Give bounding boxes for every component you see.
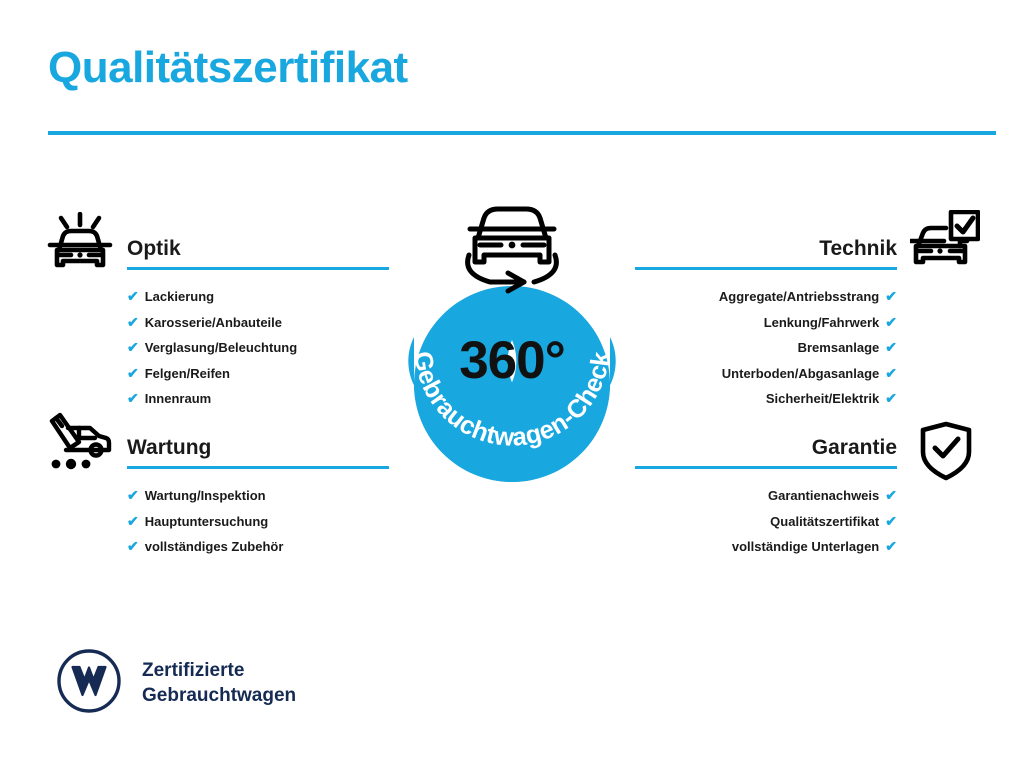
- list-item-label: Lenkung/Fahrwerk: [764, 311, 880, 336]
- section-garantie: Garantie Garantienachweis ✔ Qualitätszer…: [635, 436, 897, 560]
- list-item-label: Bremsanlage: [798, 336, 880, 361]
- list-item: ✔ Lackierung: [127, 284, 389, 310]
- vw-logo-icon: [56, 648, 122, 719]
- list-item: ✔ vollständiges Zubehör: [127, 534, 389, 560]
- check-icon: ✔: [885, 483, 897, 508]
- section-heading-technik: Technik: [635, 237, 897, 260]
- check-icon: ✔: [885, 534, 897, 559]
- check-icon: ✔: [127, 534, 139, 559]
- list-item-label: vollständiges Zubehör: [145, 535, 284, 560]
- section-heading-wartung: Wartung: [127, 436, 389, 459]
- list-item: Sicherheit/Elektrik ✔: [635, 386, 897, 412]
- section-divider-optik: [127, 267, 389, 270]
- checklist-optik: ✔ Lackierung ✔ Karosserie/Anbauteile ✔ V…: [127, 284, 389, 412]
- list-item: ✔ Karosserie/Anbauteile: [127, 310, 389, 336]
- check-icon: ✔: [127, 335, 139, 360]
- car-checkbox-icon: [910, 210, 980, 277]
- list-item: ✔ Hauptuntersuchung: [127, 509, 389, 535]
- certificate-page: Qualitätszertifikat: [0, 0, 1024, 768]
- list-item-label: Felgen/Reifen: [145, 362, 230, 387]
- list-item-label: Innenraum: [145, 387, 211, 412]
- check-icon: ✔: [885, 335, 897, 360]
- check-icon: ✔: [885, 509, 897, 534]
- check-icon: ✔: [127, 386, 139, 411]
- section-heading-optik: Optik: [127, 237, 389, 260]
- check-icon: ✔: [127, 509, 139, 534]
- section-divider-technik: [635, 267, 897, 270]
- title-divider: [48, 131, 996, 135]
- check-icon: ✔: [885, 386, 897, 411]
- list-item: ✔ Wartung/Inspektion: [127, 483, 389, 509]
- section-divider-garantie: [635, 466, 897, 469]
- badge-center-label: 360°: [374, 334, 650, 387]
- list-item-label: vollständige Unterlagen: [732, 535, 879, 560]
- page-title: Qualitätszertifikat: [48, 44, 408, 92]
- footer-line-1: Zertifizierte: [142, 659, 296, 683]
- list-item-label: Hauptuntersuchung: [145, 510, 269, 535]
- list-item: ✔ Verglasung/Beleuchtung: [127, 335, 389, 361]
- car-shine-icon: [46, 212, 114, 279]
- list-item-label: Unterboden/Abgasanlage: [722, 362, 879, 387]
- check-icon: ✔: [885, 284, 897, 309]
- check-icon: ✔: [127, 483, 139, 508]
- check-icon: ✔: [127, 284, 139, 309]
- list-item: Bremsanlage ✔: [635, 335, 897, 361]
- shield-check-icon: [917, 420, 975, 487]
- list-item-label: Wartung/Inspektion: [145, 484, 266, 509]
- check-icon: ✔: [885, 310, 897, 335]
- list-item-label: Aggregate/Antriebsstrang: [719, 285, 879, 310]
- list-item-label: Verglasung/Beleuchtung: [145, 336, 297, 361]
- wrench-car-icon: [46, 412, 114, 479]
- list-item: ✔ Felgen/Reifen: [127, 361, 389, 387]
- list-item-label: Sicherheit/Elektrik: [766, 387, 879, 412]
- list-item: ✔ Innenraum: [127, 386, 389, 412]
- list-item: vollständige Unterlagen ✔: [635, 534, 897, 560]
- footer-text-block: Zertifizierte Gebrauchtwagen: [142, 659, 296, 708]
- list-item-label: Qualitätszertifikat: [770, 510, 879, 535]
- list-item: Unterboden/Abgasanlage ✔: [635, 361, 897, 387]
- section-optik: Optik ✔ Lackierung ✔ Karosserie/Anbautei…: [127, 237, 389, 412]
- list-item: Aggregate/Antriebsstrang ✔: [635, 284, 897, 310]
- list-item: Garantienachweis ✔: [635, 483, 897, 509]
- check-icon: ✔: [127, 310, 139, 335]
- vw-certified-lockup: Zertifizierte Gebrauchtwagen: [56, 648, 296, 719]
- check-icon: ✔: [885, 361, 897, 386]
- list-item-label: Garantienachweis: [768, 484, 879, 509]
- list-item: Qualitätszertifikat ✔: [635, 509, 897, 535]
- 360-check-badge: Gebrauchtwagen-Check 360°: [374, 196, 650, 486]
- list-item-label: Karosserie/Anbauteile: [145, 311, 282, 336]
- section-wartung: Wartung ✔ Wartung/Inspektion ✔ Hauptunte…: [127, 436, 389, 560]
- list-item-label: Lackierung: [145, 285, 214, 310]
- section-technik: Technik Aggregate/Antriebsstrang ✔ Lenku…: [635, 237, 897, 412]
- footer-line-2: Gebrauchtwagen: [142, 684, 296, 708]
- checklist-garantie: Garantienachweis ✔ Qualitätszertifikat ✔…: [635, 483, 897, 560]
- section-heading-garantie: Garantie: [635, 436, 897, 459]
- car-rotate-icon: [468, 209, 557, 291]
- list-item: Lenkung/Fahrwerk ✔: [635, 310, 897, 336]
- checklist-wartung: ✔ Wartung/Inspektion ✔ Hauptuntersuchung…: [127, 483, 389, 560]
- section-divider-wartung: [127, 466, 389, 469]
- checklist-technik: Aggregate/Antriebsstrang ✔ Lenkung/Fahrw…: [635, 284, 897, 412]
- check-icon: ✔: [127, 361, 139, 386]
